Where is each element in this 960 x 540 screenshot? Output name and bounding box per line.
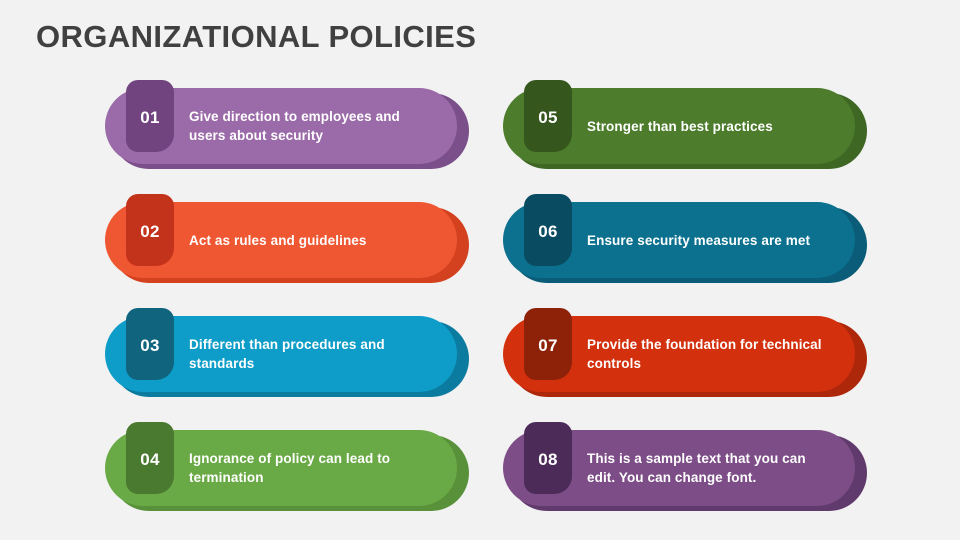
policy-card-column-right: 05Stronger than best practices06Ensure s… [503,88,875,510]
card-description-text: This is a sample text that you can edit.… [587,430,837,506]
card-description-text: Ensure security measures are met [587,202,837,278]
card-number-badge: 05 [524,80,572,152]
policy-card-05[interactable]: 05Stronger than best practices [503,88,861,168]
card-number-badge: 02 [126,194,174,266]
card-number-label: 05 [538,109,558,126]
policy-card-01[interactable]: 01Give direction to employees and users … [105,88,463,168]
policy-card-column-left: 01Give direction to employees and users … [105,88,477,510]
card-number-label: 03 [140,337,160,354]
policy-card-02[interactable]: 02Act as rules and guidelines [105,202,463,282]
policy-card-06[interactable]: 06Ensure security measures are met [503,202,861,282]
page-title: ORGANIZATIONAL POLICIES [36,18,476,56]
card-number-badge: 07 [524,308,572,380]
policy-card-08[interactable]: 08This is a sample text that you can edi… [503,430,861,510]
card-description-text: Provide the foundation for technical con… [587,316,837,392]
card-description-text: Ignorance of policy can lead to terminat… [189,430,439,506]
card-number-label: 07 [538,337,558,354]
card-description-text: Act as rules and guidelines [189,202,439,278]
card-number-label: 04 [140,451,160,468]
card-number-label: 08 [538,451,558,468]
card-description-text: Stronger than best practices [587,88,837,164]
card-description-text: Give direction to employees and users ab… [189,88,439,164]
slide-canvas: ORGANIZATIONAL POLICIES 01Give direction… [0,0,960,540]
policy-card-04[interactable]: 04Ignorance of policy can lead to termin… [105,430,463,510]
card-number-badge: 06 [524,194,572,266]
card-number-label: 01 [140,109,160,126]
card-number-label: 02 [140,223,160,240]
card-description-text: Different than procedures and standards [189,316,439,392]
card-number-badge: 08 [524,422,572,494]
card-number-badge: 01 [126,80,174,152]
policy-card-03[interactable]: 03Different than procedures and standard… [105,316,463,396]
card-number-label: 06 [538,223,558,240]
card-number-badge: 04 [126,422,174,494]
policy-card-07[interactable]: 07Provide the foundation for technical c… [503,316,861,396]
card-number-badge: 03 [126,308,174,380]
